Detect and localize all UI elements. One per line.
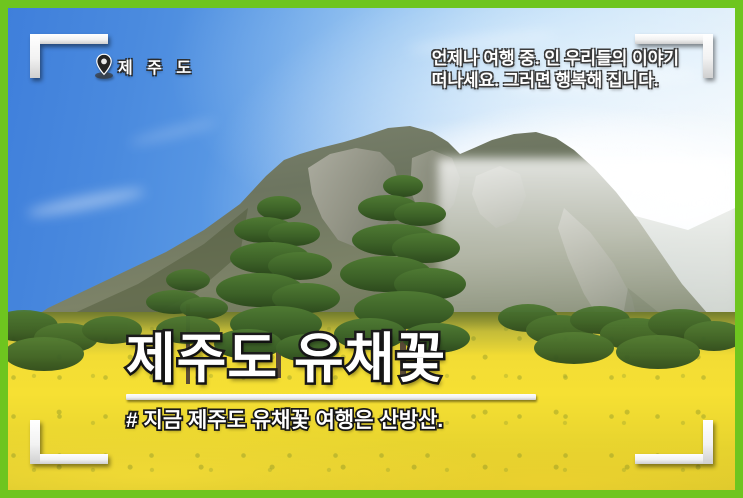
title-divider xyxy=(126,394,536,400)
location-chip[interactable]: 제 주 도 xyxy=(94,53,196,79)
tagline-line-2: 떠나세요. 그러면 행복해 집니다. xyxy=(432,70,679,92)
photo-canvas: 제 주 도 언제나 여행 중. 인 우리들의 이야기 떠나세요. 그러면 행복해… xyxy=(8,8,735,490)
page-subtitle: # 지금 제주도 유채꽃 여행은 산방산. xyxy=(126,404,536,434)
headline-block: 제주도 유채꽃 # 지금 제주도 유채꽃 여행은 산방산. xyxy=(126,332,536,434)
page-title: 제주도 유채꽃 xyxy=(126,332,536,387)
map-pin-icon xyxy=(94,53,114,79)
corner-bracket-bottom-left xyxy=(30,420,108,464)
corner-bracket-bottom-right xyxy=(635,420,713,464)
poster-frame: 제 주 도 언제나 여행 중. 인 우리들의 이야기 떠나세요. 그러면 행복해… xyxy=(0,0,743,498)
location-label: 제 주 도 xyxy=(118,54,196,78)
tagline-line-1: 언제나 여행 중. 인 우리들의 이야기 xyxy=(432,48,679,70)
tagline: 언제나 여행 중. 인 우리들의 이야기 떠나세요. 그러면 행복해 집니다. xyxy=(432,48,679,93)
